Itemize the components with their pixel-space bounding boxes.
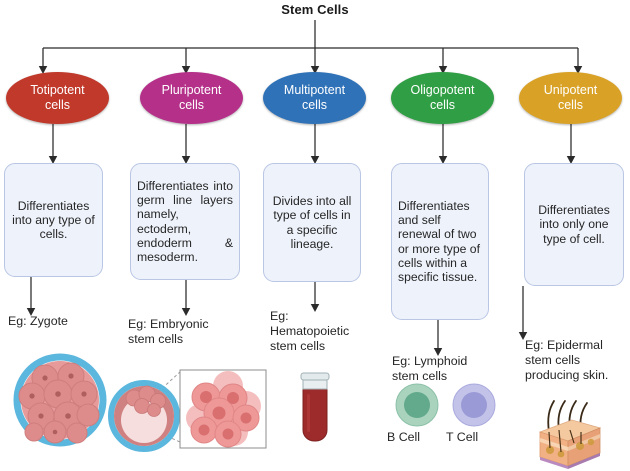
- node-multipotent[interactable]: Multipotent cells: [263, 72, 366, 124]
- node-unipotent-label-line2: cells: [544, 98, 598, 113]
- description-box-multipotent: Divides into all type of cells in a spec…: [263, 163, 361, 282]
- node-totipotent-label-line1: Totipotent: [30, 83, 84, 98]
- node-totipotent[interactable]: Totipotent cells: [6, 72, 109, 124]
- description-box-oligopotent: Differentiates and self renewal of two o…: [391, 163, 489, 320]
- example-label-oligopotent: Eg: Lymphoid stem cells: [392, 354, 484, 384]
- node-pluripotent-label-line1: Pluripotent: [162, 83, 222, 98]
- blood-tube-icon: [294, 370, 336, 448]
- magnified-cell-cluster: [180, 370, 266, 448]
- t-cell-label: T Cell: [446, 430, 478, 444]
- node-pluripotent[interactable]: Pluripotent cells: [140, 72, 243, 124]
- blastocyst: [111, 383, 177, 449]
- stem-cell-hierarchy-diagram: Stem Cells Totipotent cells Pluripotent …: [0, 0, 630, 471]
- node-unipotent-label-line1: Unipotent: [544, 83, 598, 98]
- node-unipotent[interactable]: Unipotent cells: [519, 72, 622, 124]
- node-oligopotent[interactable]: Oligopotent cells: [391, 72, 494, 124]
- skin-block-icon: [528, 398, 606, 470]
- b-cell-icon: [395, 383, 439, 427]
- node-totipotent-label-line2: cells: [30, 98, 84, 113]
- diagram-title: Stem Cells: [0, 2, 630, 17]
- example-label-unipotent: Eg: Epidermal stem cells producing skin.: [525, 338, 629, 382]
- description-box-unipotent: Differentiates into only one type of cel…: [524, 163, 624, 286]
- node-pluripotent-label-line2: cells: [162, 98, 222, 113]
- node-multipotent-label-line2: cells: [284, 98, 345, 113]
- b-cell-label: B Cell: [387, 430, 420, 444]
- description-text-totipotent: Differentiates into any type of cells.: [11, 199, 96, 242]
- t-cell-icon: [452, 383, 496, 427]
- blastocyst-morula-icon: [12, 352, 108, 448]
- example-label-multipotent: Eg: Hematopoietic stem cells: [270, 309, 354, 353]
- blastocyst-inset-icon: [100, 360, 270, 466]
- example-label-totipotent: Eg: Zygote: [8, 314, 118, 329]
- description-text-unipotent: Differentiates into only one type of cel…: [531, 203, 617, 246]
- node-oligopotent-label-line1: Oligopotent: [411, 83, 475, 98]
- description-box-totipotent: Differentiates into any type of cells.: [4, 163, 103, 277]
- description-text-oligopotent: Differentiates and self renewal of two o…: [398, 199, 482, 285]
- node-multipotent-label-line1: Multipotent: [284, 83, 345, 98]
- description-text-multipotent: Divides into all type of cells in a spec…: [270, 194, 354, 251]
- description-text-pluripotent: Differentiates into germ line layers nam…: [137, 179, 233, 265]
- example-label-pluripotent: Eg: Embryonic stem cells: [128, 317, 220, 347]
- node-oligopotent-label-line2: cells: [411, 98, 475, 113]
- description-box-pluripotent: Differentiates into germ line layers nam…: [130, 163, 240, 280]
